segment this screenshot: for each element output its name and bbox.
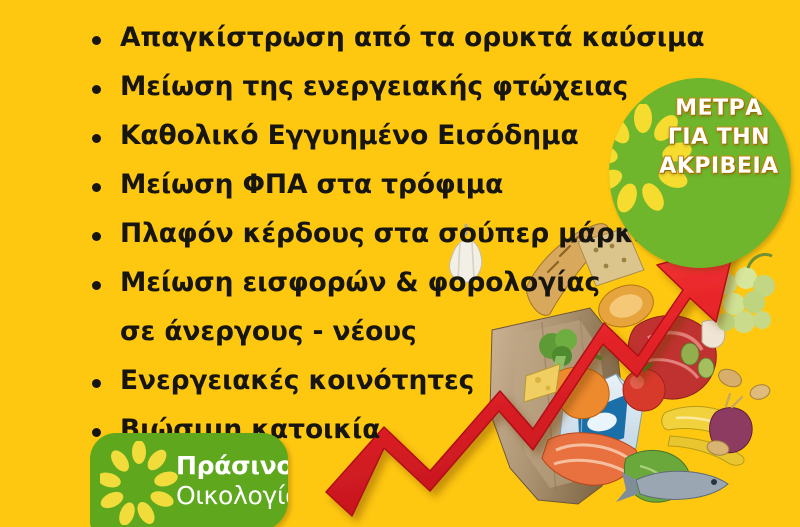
party-name: Πράσινοι — [176, 451, 288, 481]
measure-text: Πλαφόν κέρδους στα σούπερ μάρκετ — [120, 218, 665, 249]
measure-text: σε άνεργους - νέους — [120, 316, 417, 347]
status-badge: ΜΕΤΡΑ ΓΙΑ ΤΗΝ ΑΚΡΙΒΕΙΑ — [609, 78, 791, 268]
list-item: Μείωση εισφορών & φορολογίας — [84, 261, 704, 305]
measure-text: Ενεργειακές κοινότητες — [120, 365, 474, 396]
party-logo-text: Πράσινοι Οικολογία — [176, 451, 288, 511]
party-logo: Πράσινοι Οικολογία — [90, 433, 288, 527]
measure-text: Μείωση της ενεργειακής φτώχειας — [120, 71, 628, 102]
party-subtitle: Οικολογία — [176, 481, 288, 511]
list-item-continuation: σε άνεργους - νέους — [84, 310, 704, 354]
measure-text: Μείωση ΦΠΑ στα τρόφιμα — [120, 169, 503, 200]
measure-text: Καθολικό Εγγυημένο Εισόδημα — [120, 120, 579, 151]
measure-text: Μείωση εισφορών & φορολογίας — [120, 267, 600, 298]
list-item: Πλαφόν κέρδους στα σούπερ μάρκετ — [84, 212, 704, 256]
badge-text-block: ΜΕΤΡΑ ΓΙΑ ΤΗΝ ΑΚΡΙΒΕΙΑ — [647, 94, 791, 181]
sunflower-icon — [100, 441, 178, 525]
list-item: Μείωση της ενεργειακής φτώχειας — [84, 65, 704, 109]
list-item: Ενεργειακές κοινότητες — [84, 359, 704, 403]
badge-line-1: ΜΕΤΡΑ — [647, 94, 791, 123]
measures-list: Απαγκίστρωση από τα ορυκτά καύσιμα Μείωσ… — [84, 16, 704, 457]
badge-line-3: ΑΚΡΙΒΕΙΑ — [647, 152, 791, 181]
poster-canvas: Απαγκίστρωση από τα ορυκτά καύσιμα Μείωσ… — [0, 0, 800, 527]
list-item: Απαγκίστρωση από τα ορυκτά καύσιμα — [84, 16, 704, 60]
badge-line-2: ΓΙΑ ΤΗΝ — [647, 123, 791, 152]
measure-text: Απαγκίστρωση από τα ορυκτά καύσιμα — [120, 22, 705, 53]
